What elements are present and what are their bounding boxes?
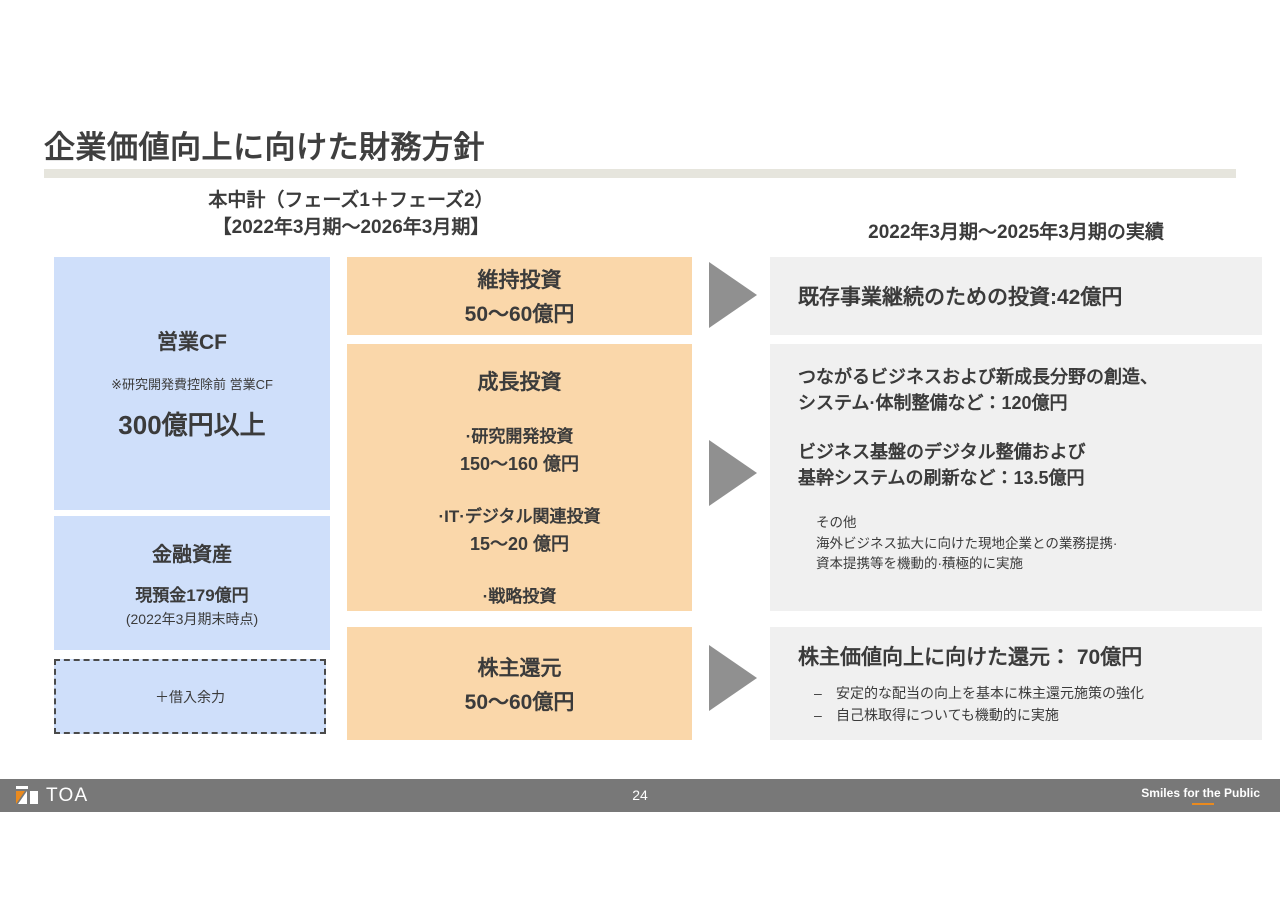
result-maintenance-headline: 既存事業継続のための投資:42億円 — [770, 281, 1122, 311]
operating-cf-note: ※研究開発費控除前 営業CF — [111, 374, 273, 393]
maintenance-investment-amount: 50～60億円 — [465, 298, 575, 328]
maintenance-investment-label: 維持投資 — [478, 264, 562, 294]
result-growth-line1: つながるビジネスおよび新成長分野の創造、 — [798, 364, 1262, 390]
operating-cf-amount: 300億円以上 — [118, 405, 265, 442]
shareholder-return-box: 株主還元 50～60億円 — [347, 627, 692, 740]
list-item-text: 安定的な配当の向上を基本に株主還元施策の強化 — [836, 683, 1144, 705]
financial-assets-label: 金融資産 — [152, 538, 232, 567]
page-number: 24 — [0, 787, 1280, 803]
middle-column-header-line2: 【2022年3月期～2026年3月期】 — [156, 215, 546, 242]
result-growth-other-label: その他 — [816, 513, 1262, 534]
slide-canvas: 企業価値向上に向けた財務方針 本中計（フェーズ1＋フェーズ2） 【2022年3月… — [0, 0, 1280, 905]
operating-cf-label: 営業CF — [157, 326, 227, 356]
growth-investment-item: ·研究開発投資 150～160 億円 — [460, 422, 579, 476]
result-panel-shareholder-return: 株主価値向上に向けた還元： 70億円 – 安定的な配当の向上を基本に株主還元施策… — [770, 627, 1262, 740]
growth-item-amount: 150～160 億円 — [460, 450, 579, 476]
list-item-text: 自己株取得についても機動的に実施 — [836, 705, 1059, 727]
growth-item-amount: 15～20 億円 — [438, 530, 600, 556]
result-growth-other-group: その他 海外ビジネス拡大に向けた現地企業との業務提携· 資本提携等を機動的·積極… — [770, 491, 1262, 575]
financial-assets-note: (2022年3月期末時点) — [126, 609, 258, 629]
tagline-accent-rule — [1192, 803, 1214, 805]
growth-investment-item: ·IT·デジタル関連投資 15～20 億円 — [438, 502, 600, 556]
maintenance-investment-box: 維持投資 50～60億円 — [347, 257, 692, 335]
right-column-header: 2022年3月期～2025年3月期の実績 — [770, 217, 1262, 244]
result-growth-group-1: つながるビジネスおよび新成長分野の創造、 システム·体制整備など：120億円 — [770, 344, 1262, 417]
shareholder-return-amount: 50～60億円 — [465, 686, 575, 716]
growth-item-strategic: ·戦略投資 — [483, 582, 557, 607]
middle-column-header: 本中計（フェーズ1＋フェーズ2） 【2022年3月期～2026年3月期】 — [156, 188, 546, 242]
arrow-right-icon — [709, 645, 757, 711]
financial-assets-amount: 現預金179億円 — [135, 581, 248, 606]
financial-assets-box: 金融資産 現預金179億円 (2022年3月期末時点) — [54, 516, 330, 650]
arrow-right-icon — [709, 262, 757, 328]
operating-cf-box: 営業CF ※研究開発費控除前 営業CF 300億円以上 — [54, 257, 330, 510]
result-growth-other-line2: 資本提携等を機動的·積極的に実施 — [816, 554, 1262, 575]
result-panel-growth: つながるビジネスおよび新成長分野の創造、 システム·体制整備など：120億円 ビ… — [770, 344, 1262, 611]
title-divider — [44, 169, 1236, 178]
result-shareholder-bullet-list: – 安定的な配当の向上を基本に株主還元施策の強化 – 自己株取得についても機動的… — [770, 671, 1262, 726]
result-growth-line3: ビジネス基盤のデジタル整備および — [798, 439, 1262, 465]
result-growth-other-line1: 海外ビジネス拡大に向けた現地企業との業務提携· — [816, 534, 1262, 555]
result-growth-line2: システム·体制整備など：120億円 — [798, 390, 1262, 416]
brand-tagline: Smiles for the Public — [1141, 786, 1260, 800]
arrow-right-icon — [709, 440, 757, 506]
borrowing-capacity-label: ＋借入余力 — [155, 687, 225, 707]
borrowing-capacity-box: ＋借入余力 — [54, 659, 326, 734]
growth-item-title: ·研究開発投資 — [460, 422, 579, 447]
result-growth-line4: 基幹システムの刷新など：13.5億円 — [798, 465, 1262, 491]
dash-bullet-icon: – — [814, 705, 836, 727]
list-item: – 安定的な配当の向上を基本に株主還元施策の強化 — [814, 683, 1262, 705]
shareholder-return-label: 株主還元 — [478, 652, 562, 682]
result-growth-group-2: ビジネス基盤のデジタル整備および 基幹システムの刷新など：13.5億円 — [770, 417, 1262, 492]
list-item: – 自己株取得についても機動的に実施 — [814, 705, 1262, 727]
result-panel-maintenance: 既存事業継続のための投資:42億円 — [770, 257, 1262, 335]
middle-column-header-line1: 本中計（フェーズ1＋フェーズ2） — [156, 188, 546, 215]
result-shareholder-headline: 株主価値向上に向けた還元： 70億円 — [770, 627, 1262, 671]
growth-investment-label: 成長投資 — [478, 366, 562, 396]
growth-item-title: ·IT·デジタル関連投資 — [438, 502, 600, 527]
page-title: 企業価値向上に向けた財務方針 — [44, 122, 485, 167]
dash-bullet-icon: – — [814, 683, 836, 705]
growth-investment-box: 成長投資 ·研究開発投資 150～160 億円 ·IT·デジタル関連投資 15～… — [347, 344, 692, 611]
